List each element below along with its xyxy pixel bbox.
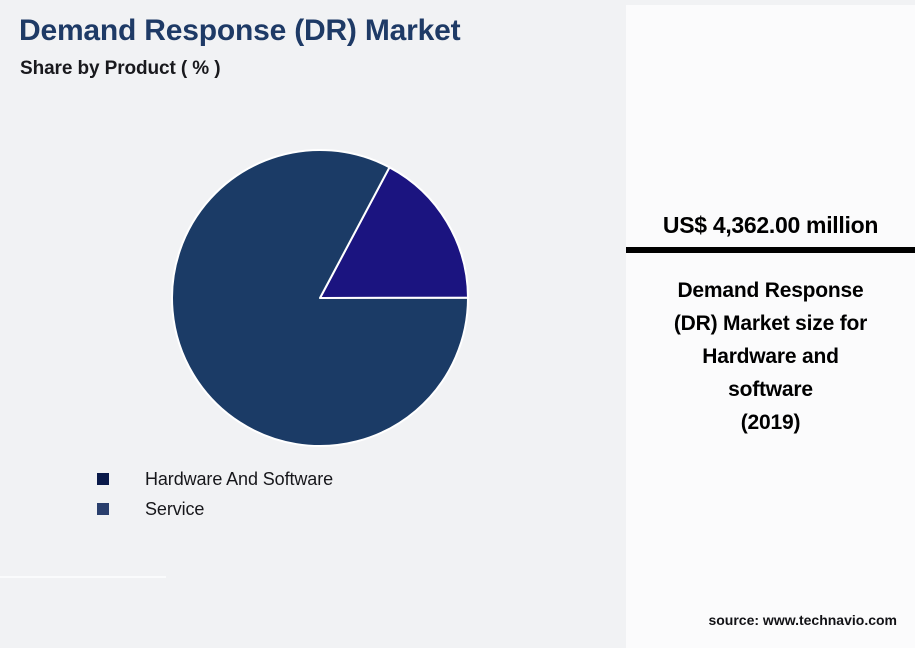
legend-swatch-icon (97, 503, 109, 515)
callout-divider (626, 247, 915, 253)
page-title: Demand Response (DR) Market (19, 14, 460, 48)
baseline-rule (0, 576, 166, 578)
callout-description-line: Demand Response (677, 279, 863, 302)
callout-description-line: Hardware and (702, 345, 838, 368)
legend-item-label: Hardware And Software (145, 469, 333, 490)
callout-description-line: software (728, 378, 813, 401)
chart-legend: Hardware And Software Service (97, 464, 517, 524)
legend-item-hardware-and-software[interactable]: Hardware And Software (97, 464, 517, 494)
legend-item-label: Service (145, 499, 204, 520)
legend-item-service[interactable]: Service (97, 494, 517, 524)
panel-top-strip (626, 0, 915, 5)
callout-description-line: (2019) (741, 411, 801, 434)
callout-description-line: (DR) Market size for (674, 312, 867, 335)
callout-panel: US$ 4,362.00 million Demand Response(DR)… (626, 0, 915, 648)
source-note: source: www.technavio.com (626, 612, 915, 628)
pie-chart (172, 150, 468, 446)
legend-swatch-icon (97, 473, 109, 485)
pie-chart-svg (172, 150, 468, 446)
infographic-root: Demand Response (DR) Market Share by Pro… (0, 0, 915, 648)
chart-panel: Demand Response (DR) Market Share by Pro… (0, 0, 626, 648)
pie-slice-group (172, 150, 468, 446)
callout-value: US$ 4,362.00 million (626, 212, 915, 239)
page-subtitle: Share by Product ( % ) (20, 58, 221, 80)
callout-description: Demand Response(DR) Market size forHardw… (640, 274, 901, 439)
